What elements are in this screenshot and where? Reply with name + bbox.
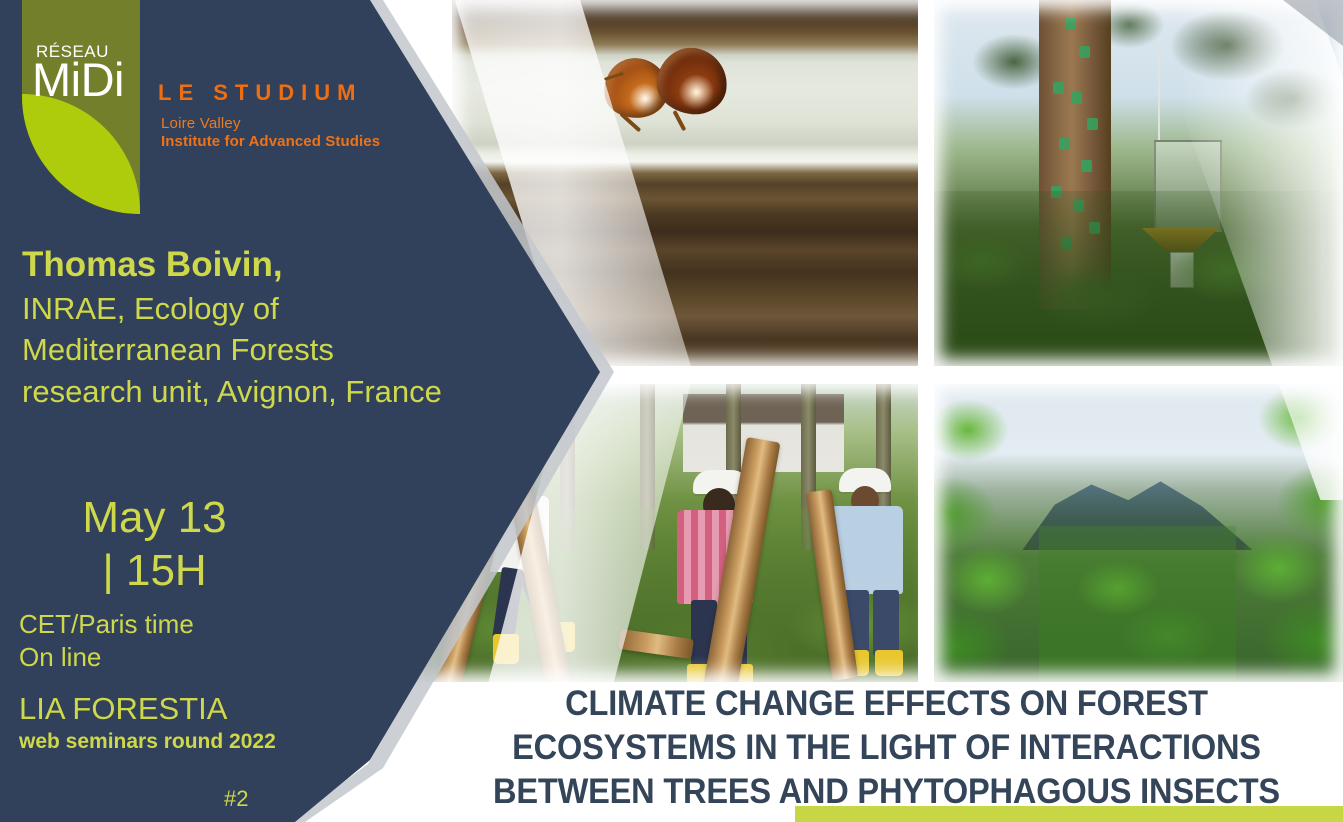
event-datetime-block: May 13 | 15H bbox=[22, 492, 287, 598]
series-block: LIA FORESTIA web seminars round 2022 bbox=[19, 692, 319, 754]
speaker-block: Thomas Boivin, INRAE, Ecology of Mediter… bbox=[22, 243, 442, 412]
institute-subtitle-line-1: Loire Valley bbox=[161, 115, 380, 132]
series-name: LIA FORESTIA bbox=[19, 692, 319, 727]
event-time: | 15H bbox=[22, 545, 287, 598]
institute-name: LE STUDIUM bbox=[158, 80, 380, 106]
leaf-logo bbox=[22, 0, 140, 214]
left-foliage bbox=[932, 382, 1096, 682]
seminar-title: CLIMATE CHANGE EFFECTS ON FOREST ECOSYST… bbox=[462, 682, 1311, 813]
photo-separator bbox=[918, 0, 934, 690]
seminar-poster: RÉSEAU MiDi LE STUDIUM Loire Valley Inst… bbox=[0, 0, 1343, 822]
event-mode: On line bbox=[19, 641, 349, 674]
beetle-leg bbox=[672, 110, 686, 131]
bark-beetle-icon bbox=[654, 45, 731, 118]
event-location-block: CET/Paris time On line bbox=[19, 608, 349, 675]
speaker-name: Thomas Boivin, bbox=[22, 243, 442, 288]
green-accent-bar bbox=[795, 806, 1343, 822]
photo-tropical-forest-vista bbox=[932, 382, 1343, 682]
speaker-affiliation: INRAE, Ecology of Mediterranean Forests … bbox=[22, 288, 442, 413]
right-foliage bbox=[1154, 382, 1343, 682]
le-studium-logo: LE STUDIUM Loire Valley Institute for Ad… bbox=[158, 80, 380, 150]
seminar-title-band: CLIMATE CHANGE EFFECTS ON FOREST ECOSYST… bbox=[430, 682, 1343, 800]
event-date: May 13 bbox=[22, 492, 287, 545]
series-episode-number: #2 bbox=[224, 786, 248, 812]
series-subtitle: web seminars round 2022 bbox=[19, 730, 319, 755]
canopy-foliage bbox=[932, 0, 1343, 206]
trap-hanger-wire bbox=[1158, 37, 1160, 140]
institute-subtitle-line-2: Institute for Advanced Studies bbox=[161, 133, 380, 150]
logo-midi-word: MiDi bbox=[32, 56, 124, 103]
undergrowth bbox=[932, 191, 1343, 368]
photo-pine-tree-insect-trap bbox=[932, 0, 1343, 368]
event-timezone: CET/Paris time bbox=[19, 608, 349, 641]
